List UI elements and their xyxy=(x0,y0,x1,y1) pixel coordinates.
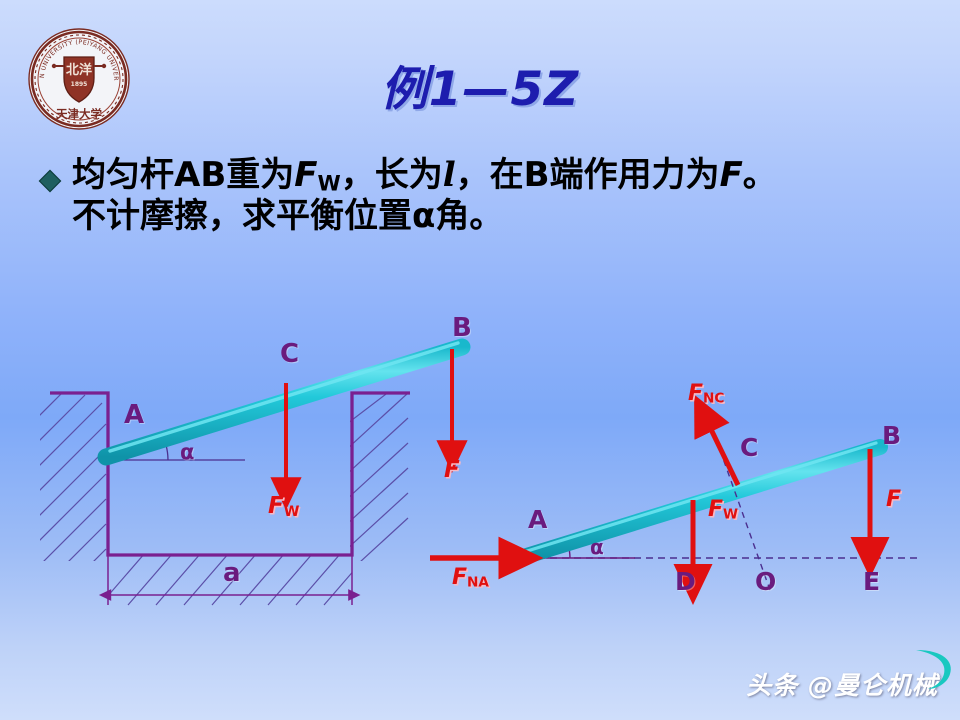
label-b-point-fbd: B xyxy=(882,421,901,450)
label-alpha-angle: α xyxy=(180,440,194,464)
label-c-point-fbd: C xyxy=(740,433,758,462)
force-label-fnc: FNC xyxy=(688,381,724,407)
bullet-row: 均匀杆AB重为FW，长为l，在B端作用力为F。 不计摩擦，求平衡位置α角。 xyxy=(42,155,932,238)
bullet-paragraph: 均匀杆AB重为FW，长为l，在B端作用力为F。 不计摩擦，求平衡位置α角。 xyxy=(72,155,777,238)
watermark-arc-icon xyxy=(910,644,956,692)
slide-title: 例1—5Z xyxy=(0,50,960,119)
label-a-point-fbd: A xyxy=(528,505,547,534)
force-label-fw-right: FW xyxy=(708,497,738,523)
force-label-fw: FW xyxy=(268,493,299,520)
label-a-point: A xyxy=(124,400,144,430)
force-arrow-fnc xyxy=(705,417,738,485)
text-line1-suffix: 。 xyxy=(743,155,777,195)
label-c-point: C xyxy=(280,339,299,369)
label-d-point: D xyxy=(675,567,696,596)
hatch-left-wall xyxy=(40,385,106,585)
label-dimension-a: a xyxy=(223,558,241,588)
text-line1-prefix: 均匀杆AB重为 xyxy=(72,155,294,195)
force-label-fna: FNA xyxy=(452,565,489,591)
figure-free-body: A B C D O E α FNA FNC FW F xyxy=(420,375,960,615)
symbol-l: l xyxy=(443,155,456,195)
text-line1-mid: ，长为 xyxy=(341,155,443,195)
label-b-point: B xyxy=(452,313,472,343)
bullet-block: 均匀杆AB重为FW，长为l，在B端作用力为F。 不计摩擦，求平衡位置α角。 xyxy=(42,155,932,238)
diamond-bullet-icon xyxy=(39,170,62,193)
label-e-point: E xyxy=(863,567,880,596)
rod-ab-fbd xyxy=(520,443,880,558)
text-line1-mid2: ，在B端作用力为 xyxy=(456,155,720,195)
slide-canvas: TIANJIN UNIVERSITY (PEIYANG UNIVERSITY) … xyxy=(0,0,960,720)
symbol-f: F xyxy=(720,155,743,195)
text-line2: 不计摩擦，求平衡位置α角。 xyxy=(72,196,503,236)
label-o-point: O xyxy=(755,567,776,596)
symbol-fw: FW xyxy=(294,155,340,195)
hatch-right-wall xyxy=(348,391,408,573)
label-alpha-angle-fbd: α xyxy=(590,535,604,559)
force-label-f-right: F xyxy=(886,487,901,512)
